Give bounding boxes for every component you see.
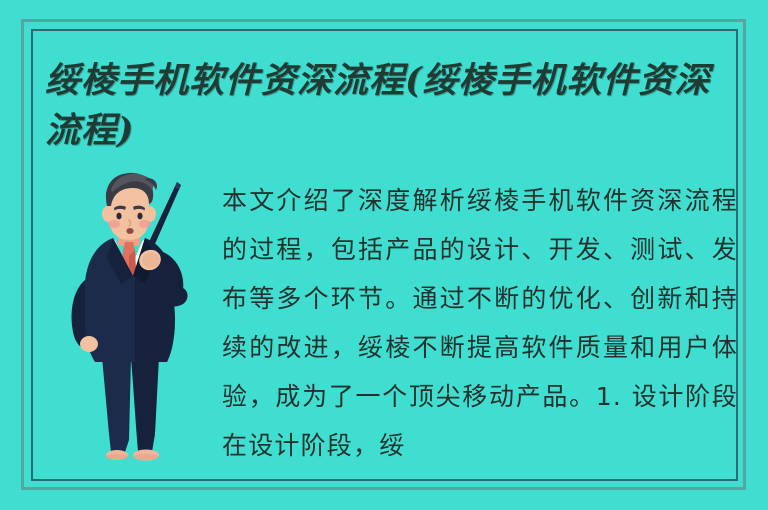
page-title: 绥棱手机软件资深流程(绥棱手机软件资深流程): [45, 56, 745, 156]
left-cheek: [108, 220, 120, 228]
poster-canvas: 绥棱手机软件资深流程(绥棱手机软件资深流程): [0, 0, 768, 510]
right-cheek: [139, 220, 151, 228]
article-body: 本文介绍了深度解析绥棱手机软件资深流程的过程，包括产品的设计、开发、测试、发布等…: [222, 176, 738, 470]
left-leg: [102, 357, 131, 452]
illustration-businessman-with-pointer: [55, 172, 220, 482]
right-leg: [131, 357, 159, 452]
right-eye: [137, 213, 142, 220]
mouth: [126, 228, 133, 234]
left-hand: [80, 336, 98, 352]
left-eye: [116, 213, 121, 220]
